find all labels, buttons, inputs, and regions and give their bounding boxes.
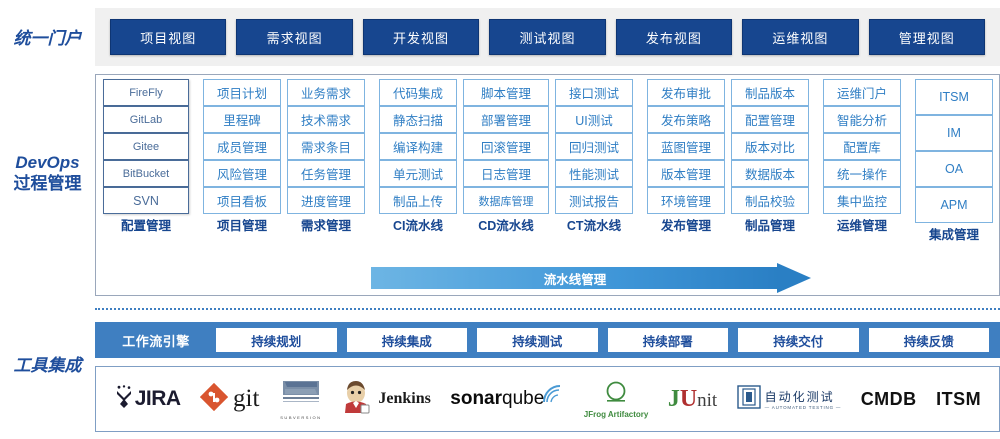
devops-cell[interactable]: 配置库 bbox=[823, 133, 901, 160]
devops-column-cells: 运维门户智能分析配置库统一操作集中监控 bbox=[823, 79, 901, 214]
devops-cell[interactable]: 日志管理 bbox=[463, 160, 549, 187]
devops-cell[interactable]: 回滚管理 bbox=[463, 133, 549, 160]
devops-column-container: FireFlyGitLabGiteeBitBucketSVN配置管理项目计划里程… bbox=[100, 79, 995, 267]
devops-column-4: 代码集成静态扫描编译构建单元测试制品上传CI流水线 bbox=[376, 79, 460, 267]
devops-cell[interactable]: BitBucket bbox=[103, 160, 189, 187]
jira-logo: JIRA bbox=[114, 375, 181, 423]
workflow-stage-6[interactable]: 持续反馈 bbox=[869, 328, 990, 352]
rail-label-tools-text: 工具集成 bbox=[14, 356, 82, 375]
devops-column-5: 脚本管理部署管理回滚管理日志管理数据库管理CD流水线 bbox=[460, 79, 552, 267]
devops-cell[interactable]: 接口测试 bbox=[555, 79, 633, 106]
devops-cell[interactable]: 版本对比 bbox=[731, 133, 809, 160]
portal-button-7[interactable]: 管理视图 bbox=[869, 19, 985, 55]
pipeline-arrow-label: 流水线管理 bbox=[371, 267, 779, 289]
pipeline-arrow: 流水线管理 bbox=[371, 267, 811, 289]
devops-cell[interactable]: 静态扫描 bbox=[379, 106, 457, 133]
devops-column-footer: 需求管理 bbox=[284, 214, 368, 234]
devops-column-9: 运维门户智能分析配置库统一操作集中监控运维管理 bbox=[820, 79, 904, 267]
devops-cell[interactable]: 制品版本 bbox=[731, 79, 809, 106]
devops-cell[interactable]: 风险管理 bbox=[203, 160, 281, 187]
devops-cell[interactable]: UI测试 bbox=[555, 106, 633, 133]
portal-button-3[interactable]: 开发视图 bbox=[363, 19, 479, 55]
sonarqube-logo: sonarqube bbox=[450, 375, 564, 423]
devops-column-1: FireFlyGitLabGiteeBitBucketSVN配置管理 bbox=[100, 79, 192, 267]
devops-cell[interactable]: 集中监控 bbox=[823, 187, 901, 214]
subversion-logo-mark: SUBVERSION bbox=[279, 379, 323, 420]
rail-label-portal: 统一门户 bbox=[0, 28, 95, 49]
git-logo: git bbox=[200, 375, 259, 423]
devops-cell[interactable]: 需求条目 bbox=[287, 133, 365, 160]
devops-column-cells: 项目计划里程碑成员管理风险管理项目看板 bbox=[203, 79, 281, 214]
devops-column-cells: 脚本管理部署管理回滚管理日志管理数据库管理 bbox=[463, 79, 549, 214]
portal-button-bar: 项目视图需求视图开发视图测试视图发布视图运维视图管理视图 bbox=[95, 8, 1000, 66]
jfrog-artifactory-logo-mark: JFrog Artifactory bbox=[584, 380, 649, 419]
devops-column-cells: 接口测试UI测试回归测试性能测试测试报告 bbox=[555, 79, 633, 214]
devops-cell[interactable]: IM bbox=[915, 115, 993, 151]
jenkins-logo-mark: Jenkins bbox=[342, 380, 430, 419]
devops-cell[interactable]: GitLab bbox=[103, 106, 189, 133]
git-logo-mark: git bbox=[200, 383, 259, 416]
devops-cell[interactable]: 数据库管理 bbox=[463, 187, 549, 214]
devops-cell[interactable]: ITSM bbox=[915, 79, 993, 115]
itsm-logo-mark: ITSM bbox=[936, 389, 981, 410]
jira-logo-mark: JIRA bbox=[114, 385, 181, 414]
devops-process-panel: FireFlyGitLabGiteeBitBucketSVN配置管理项目计划里程… bbox=[95, 74, 1000, 296]
workflow-stage-container: 持续规划持续集成持续测试持续部署持续交付持续反馈 bbox=[211, 328, 994, 352]
devops-architecture-diagram: 统一门户 DevOps 过程管理 工具集成 项目视图需求视图开发视图测试视图发布… bbox=[0, 0, 1000, 439]
pipeline-arrow-head-icon bbox=[777, 263, 811, 293]
devops-column-footer: CI流水线 bbox=[376, 214, 460, 234]
subversion-logo: SUBVERSION bbox=[279, 375, 323, 423]
cmdb-logo-mark: CMDB bbox=[861, 389, 917, 410]
devops-cell[interactable]: 项目计划 bbox=[203, 79, 281, 106]
devops-cell[interactable]: 技术需求 bbox=[287, 106, 365, 133]
portal-button-4[interactable]: 测试视图 bbox=[489, 19, 605, 55]
devops-cell[interactable]: 成员管理 bbox=[203, 133, 281, 160]
rail-label-tools: 工具集成 bbox=[0, 355, 95, 376]
devops-column-footer: CD流水线 bbox=[460, 214, 552, 234]
workflow-stage-4[interactable]: 持续部署 bbox=[608, 328, 729, 352]
devops-column-6: 接口测试UI测试回归测试性能测试测试报告CT流水线 bbox=[552, 79, 636, 267]
workflow-stage-5[interactable]: 持续交付 bbox=[738, 328, 859, 352]
devops-column-7: 发布审批发布策略蓝图管理版本管理环境管理发布管理 bbox=[644, 79, 728, 267]
devops-cell[interactable]: 智能分析 bbox=[823, 106, 901, 133]
devops-column-cells: 制品版本配置管理版本对比数据版本制品校验 bbox=[731, 79, 809, 214]
devops-column-cells: 发布审批发布策略蓝图管理版本管理环境管理 bbox=[647, 79, 725, 214]
rail-label-devops-en: DevOps bbox=[15, 153, 79, 172]
devops-cell[interactable]: 任务管理 bbox=[287, 160, 365, 187]
devops-column-cells: 业务需求技术需求需求条目任务管理进度管理 bbox=[287, 79, 365, 214]
devops-cell[interactable]: 进度管理 bbox=[287, 187, 365, 214]
devops-cell[interactable]: 性能测试 bbox=[555, 160, 633, 187]
devops-column-footer: 集成管理 bbox=[912, 223, 996, 243]
devops-cell[interactable]: 代码集成 bbox=[379, 79, 457, 106]
workflow-stage-2[interactable]: 持续集成 bbox=[347, 328, 468, 352]
tool-logo-panel: JIRAgitSUBVERSIONJenkinssonarqubeJFrog A… bbox=[95, 366, 1000, 432]
devops-cell[interactable]: 编译构建 bbox=[379, 133, 457, 160]
jfrog-artifactory-logo: JFrog Artifactory bbox=[584, 375, 649, 423]
devops-column-cells: 代码集成静态扫描编译构建单元测试制品上传 bbox=[379, 79, 457, 214]
junit-logo-mark: JUnit bbox=[668, 386, 717, 413]
portal-button-2[interactable]: 需求视图 bbox=[236, 19, 352, 55]
devops-column-3: 业务需求技术需求需求条目任务管理进度管理需求管理 bbox=[284, 79, 368, 267]
devops-cell[interactable]: 发布审批 bbox=[647, 79, 725, 106]
sonarqube-logo-mark: sonarqube bbox=[450, 384, 564, 414]
workflow-engine-bar: 工作流引擎 持续规划持续集成持续测试持续部署持续交付持续反馈 bbox=[95, 322, 1000, 358]
cmdb-logo: CMDB bbox=[861, 375, 917, 423]
automated-testing-logo-mark: 自动化测试— AUTOMATED TESTING — bbox=[737, 385, 842, 414]
devops-column-8: 制品版本配置管理版本对比数据版本制品校验制品管理 bbox=[728, 79, 812, 267]
portal-button-6[interactable]: 运维视图 bbox=[742, 19, 858, 55]
devops-cell[interactable]: 项目看板 bbox=[203, 187, 281, 214]
rail-label-portal-text: 统一门户 bbox=[14, 29, 82, 48]
rail-label-devops: DevOps 过程管理 bbox=[0, 152, 95, 195]
devops-cell[interactable]: FireFly bbox=[103, 79, 189, 106]
devops-column-footer: CT流水线 bbox=[552, 214, 636, 234]
devops-cell[interactable]: 统一操作 bbox=[823, 160, 901, 187]
devops-cell[interactable]: 制品校验 bbox=[731, 187, 809, 214]
devops-cell[interactable]: 配置管理 bbox=[731, 106, 809, 133]
devops-column-cells: ITSMIMOAAPM bbox=[915, 79, 993, 223]
devops-cell[interactable]: 环境管理 bbox=[647, 187, 725, 214]
devops-column-footer: 配置管理 bbox=[100, 214, 192, 234]
devops-cell[interactable]: 版本管理 bbox=[647, 160, 725, 187]
devops-column-2: 项目计划里程碑成员管理风险管理项目看板项目管理 bbox=[200, 79, 284, 267]
automated-testing-logo: 自动化测试— AUTOMATED TESTING — bbox=[737, 375, 842, 423]
itsm-logo: ITSM bbox=[936, 375, 981, 423]
junit-logo: JUnit bbox=[668, 375, 717, 423]
section-divider-dashed bbox=[95, 308, 1000, 310]
devops-column-10: ITSMIMOAAPM集成管理 bbox=[912, 79, 996, 267]
portal-button-5[interactable]: 发布视图 bbox=[616, 19, 732, 55]
workflow-stage-1[interactable]: 持续规划 bbox=[216, 328, 337, 352]
devops-cell[interactable]: 发布策略 bbox=[647, 106, 725, 133]
devops-column-cells: FireFlyGitLabGiteeBitBucketSVN bbox=[103, 79, 189, 214]
portal-button-1[interactable]: 项目视图 bbox=[110, 19, 226, 55]
devops-column-footer: 运维管理 bbox=[820, 214, 904, 234]
devops-cell[interactable]: 里程碑 bbox=[203, 106, 281, 133]
devops-cell[interactable]: 制品上传 bbox=[379, 187, 457, 214]
devops-cell[interactable]: SVN bbox=[103, 187, 189, 214]
devops-cell[interactable]: 运维门户 bbox=[823, 79, 901, 106]
devops-cell[interactable]: 数据版本 bbox=[731, 160, 809, 187]
devops-cell[interactable]: Gitee bbox=[103, 133, 189, 160]
devops-cell[interactable]: 单元测试 bbox=[379, 160, 457, 187]
devops-column-footer: 发布管理 bbox=[644, 214, 728, 234]
devops-cell[interactable]: 回归测试 bbox=[555, 133, 633, 160]
workflow-stage-3[interactable]: 持续测试 bbox=[477, 328, 598, 352]
workflow-engine-label: 工作流引擎 bbox=[101, 331, 211, 350]
devops-cell[interactable]: APM bbox=[915, 187, 993, 223]
jenkins-logo: Jenkins bbox=[342, 375, 430, 423]
devops-column-footer: 项目管理 bbox=[200, 214, 284, 234]
devops-cell[interactable]: 部署管理 bbox=[463, 106, 549, 133]
devops-column-footer: 制品管理 bbox=[728, 214, 812, 234]
devops-cell[interactable]: OA bbox=[915, 151, 993, 187]
devops-cell[interactable]: 测试报告 bbox=[555, 187, 633, 214]
devops-cell[interactable]: 脚本管理 bbox=[463, 79, 549, 106]
devops-cell[interactable]: 蓝图管理 bbox=[647, 133, 725, 160]
rail-label-devops-cn: 过程管理 bbox=[0, 173, 95, 194]
devops-cell[interactable]: 业务需求 bbox=[287, 79, 365, 106]
